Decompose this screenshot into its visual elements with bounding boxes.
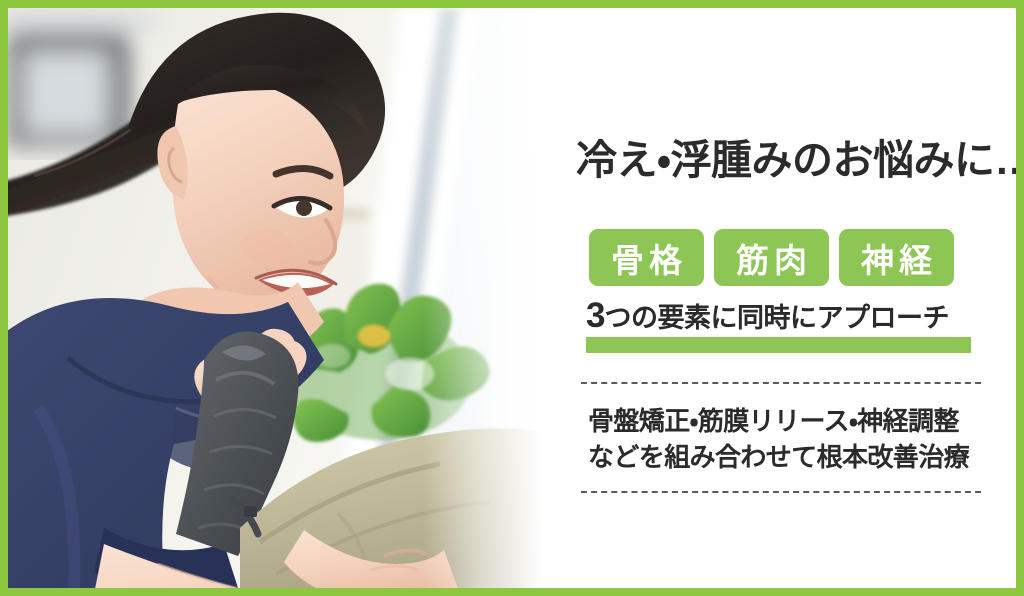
promo-banner: 冷え・浮腫みのお悩みに… 骨格 筋肉 神経 3つの要素に同時にアプローチ 骨盤矯…: [0, 0, 1024, 596]
hero-photo-illustration: [8, 8, 553, 588]
subtitle-number: 3: [586, 296, 604, 335]
description-line-2: などを組み合わせて根本改善治療: [588, 439, 981, 475]
description-block: 骨盤矯正・筋膜リリース・神経調整 などを組み合わせて根本改善治療: [581, 382, 981, 493]
keyword-badge-group: 骨格 筋肉 神経: [589, 229, 954, 286]
hero-photo: [8, 8, 553, 588]
subtitle-wrap: 3つの要素に同時にアプローチ: [586, 296, 978, 338]
subtitle-highlight-bar: [586, 337, 971, 353]
description-bottom-rule: [581, 491, 981, 493]
badge-muscle: 筋肉: [714, 229, 829, 286]
badge-nerve-label: 神経: [856, 234, 937, 282]
badge-skeleton-label: 骨格: [606, 234, 687, 282]
badge-nerve: 神経: [839, 229, 954, 286]
badge-muscle-label: 筋肉: [731, 234, 812, 282]
description-line-1: 骨盤矯正・筋膜リリース・神経調整: [588, 403, 981, 439]
subtitle-text: つの要素に同時にアプローチ: [604, 303, 949, 333]
description-text: 骨盤矯正・筋膜リリース・神経調整 などを組み合わせて根本改善治療: [581, 384, 981, 491]
subtitle: 3つの要素に同時にアプローチ: [586, 296, 978, 338]
badge-skeleton: 骨格: [589, 229, 704, 286]
text-panel: 冷え・浮腫みのお悩みに… 骨格 筋肉 神経 3つの要素に同時にアプローチ 骨盤矯…: [553, 8, 1016, 588]
page-title: 冷え・浮腫みのお悩みに…: [576, 126, 1024, 186]
